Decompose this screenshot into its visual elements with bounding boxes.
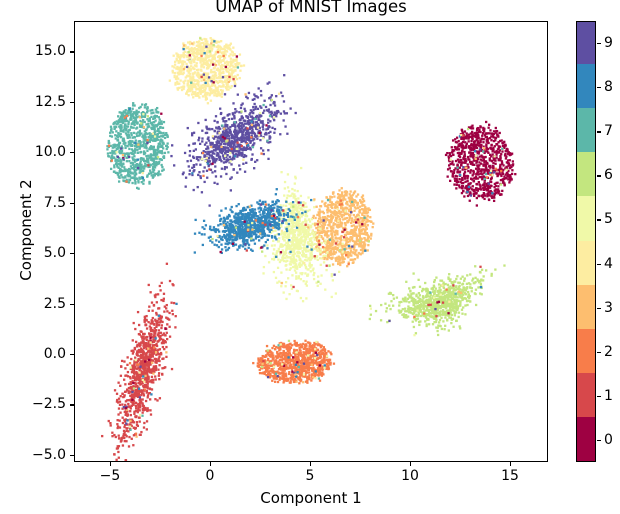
- colorbar-tick-mark: [597, 308, 601, 309]
- y-tick-mark: [70, 354, 74, 355]
- colorbar-tick-mark: [597, 440, 601, 441]
- y-tick-mark: [70, 304, 74, 305]
- y-tick-label: 12.5: [35, 94, 66, 110]
- colorbar: [576, 21, 596, 462]
- colorbar-band-0: [577, 416, 595, 461]
- y-tick-mark: [70, 404, 74, 405]
- scatter-svg: [75, 22, 548, 462]
- y-axis-label: Component 2: [17, 100, 35, 360]
- y-tick-mark: [70, 152, 74, 153]
- colorbar-tick-mark: [597, 175, 601, 176]
- x-tick-mark: [410, 462, 411, 466]
- x-tick-label: 10: [401, 468, 419, 484]
- colorbar-label-5: 5: [604, 211, 613, 227]
- y-tick-mark: [70, 203, 74, 204]
- y-tick-mark: [70, 102, 74, 103]
- colorbar-label-6: 6: [604, 167, 613, 183]
- x-tick-mark: [310, 462, 311, 466]
- y-tick-label: 2.5: [44, 296, 66, 312]
- colorbar-tick-mark: [597, 131, 601, 132]
- colorbar-tick-mark: [597, 264, 601, 265]
- colorbar-band-1: [577, 372, 595, 417]
- colorbar-label-1: 1: [604, 388, 613, 404]
- x-axis-label: Component 1: [74, 489, 548, 507]
- y-tick-mark: [70, 51, 74, 52]
- colorbar-tick-mark: [597, 352, 601, 353]
- scatter-points-layer: [75, 22, 547, 461]
- colorbar-band-4: [577, 240, 595, 285]
- colorbar-label-9: 9: [604, 35, 613, 51]
- colorbar-band-9: [577, 21, 595, 64]
- y-tick-label: −2.5: [32, 396, 66, 412]
- x-tick-label: 15: [501, 468, 519, 484]
- colorbar-tick-mark: [597, 43, 601, 44]
- y-tick-mark: [70, 253, 74, 254]
- y-tick-label: 10.0: [35, 144, 66, 160]
- colorbar-label-8: 8: [604, 79, 613, 95]
- colorbar-label-4: 4: [604, 256, 613, 272]
- colorbar-tick-mark: [597, 87, 601, 88]
- umap-scatter-figure: UMAP of MNIST Images −505101515.012.510.…: [0, 0, 620, 514]
- plot-axes-area: [74, 21, 548, 462]
- x-tick-mark: [510, 462, 511, 466]
- colorbar-label-0: 0: [604, 432, 613, 448]
- x-tick-label: 0: [206, 468, 215, 484]
- colorbar-tick-mark: [597, 219, 601, 220]
- y-tick-mark: [70, 455, 74, 456]
- colorbar-band-8: [577, 64, 595, 109]
- colorbar-band-3: [577, 284, 595, 329]
- x-tick-mark: [110, 462, 111, 466]
- y-tick-label: 7.5: [44, 195, 66, 211]
- colorbar-band-5: [577, 196, 595, 241]
- y-tick-label: 5.0: [44, 245, 66, 261]
- y-tick-label: 0.0: [44, 346, 66, 362]
- colorbar-band-2: [577, 328, 595, 373]
- chart-title: UMAP of MNIST Images: [74, 0, 548, 16]
- y-tick-label: −5.0: [32, 447, 66, 463]
- x-tick-label: 5: [306, 468, 315, 484]
- colorbar-tick-mark: [597, 396, 601, 397]
- colorbar-label-3: 3: [604, 300, 613, 316]
- x-tick-mark: [210, 462, 211, 466]
- colorbar-band-6: [577, 152, 595, 197]
- colorbar-label-7: 7: [604, 123, 613, 139]
- colorbar-label-2: 2: [604, 344, 613, 360]
- x-tick-label: −5: [100, 468, 121, 484]
- y-tick-label: 15.0: [35, 43, 66, 59]
- colorbar-band-7: [577, 108, 595, 153]
